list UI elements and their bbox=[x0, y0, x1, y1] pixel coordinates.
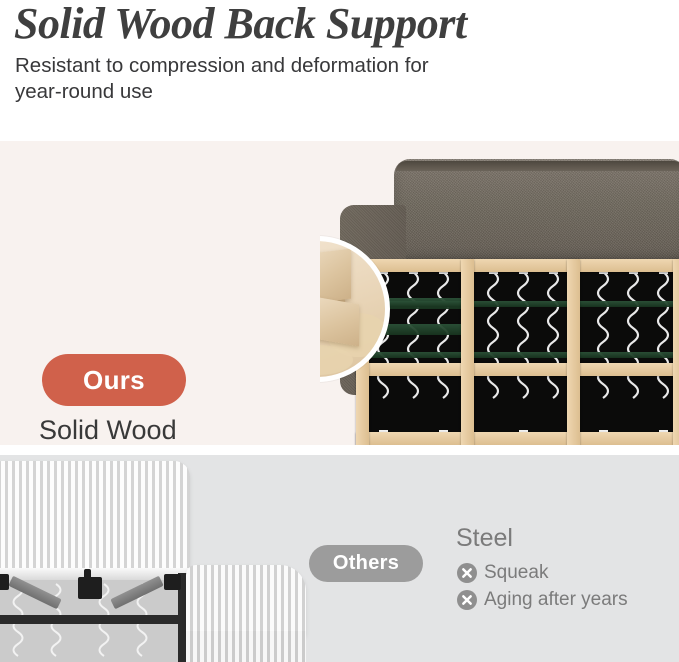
list-item-label: Aging after years bbox=[484, 589, 628, 611]
page-title: Solid Wood Back Support bbox=[14, 0, 467, 49]
steel-bracket bbox=[164, 574, 181, 590]
wood-block bbox=[320, 294, 359, 347]
ours-material-label: Solid Wood bbox=[39, 415, 177, 445]
wood-beam-vertical bbox=[673, 259, 679, 445]
ours-badge: Ours bbox=[42, 354, 186, 406]
steel-frame-sofa-photo bbox=[0, 455, 330, 662]
others-badge: Others bbox=[309, 545, 423, 582]
steel-bracket bbox=[0, 574, 9, 590]
wood-beam-horizontal bbox=[356, 259, 679, 272]
wood-beam-vertical bbox=[567, 259, 580, 445]
wood-beam-horizontal bbox=[356, 363, 679, 376]
fabric-cushion-back bbox=[394, 159, 679, 263]
green-webbing-strap bbox=[367, 352, 677, 358]
steel-mechanism-stem bbox=[84, 569, 91, 579]
list-item: Squeak bbox=[457, 562, 628, 584]
page-subtitle: Resistant to compression and deformation… bbox=[15, 53, 435, 105]
comparison-infographic: Solid Wood Back Support Resistant to com… bbox=[0, 0, 679, 662]
steel-rail-horizontal bbox=[0, 615, 190, 624]
x-circle-icon bbox=[457, 590, 477, 610]
steel-mechanism-hub bbox=[78, 577, 102, 599]
wood-frame-grid bbox=[356, 259, 679, 445]
sofa-backrest bbox=[0, 461, 190, 571]
list-item-label: Squeak bbox=[484, 562, 548, 584]
solid-wood-frame-photo bbox=[320, 141, 679, 445]
wood-beam-horizontal bbox=[356, 432, 679, 445]
x-circle-icon bbox=[457, 563, 477, 583]
sofa-arm-base bbox=[186, 631, 306, 662]
list-item: Aging after years bbox=[457, 589, 628, 611]
others-feature-list: Squeak Aging after years bbox=[457, 562, 628, 616]
header: Solid Wood Back Support Resistant to com… bbox=[0, 0, 679, 140]
others-panel: Others Steel Squeak Aging after years bbox=[0, 455, 679, 662]
green-webbing-strap bbox=[367, 301, 677, 307]
wood-beam-vertical bbox=[461, 259, 474, 445]
sofa-armrest bbox=[186, 565, 306, 638]
others-material-label: Steel bbox=[456, 524, 513, 553]
ours-panel: Ours Solid Wood Squeak free Durable bbox=[0, 141, 679, 445]
